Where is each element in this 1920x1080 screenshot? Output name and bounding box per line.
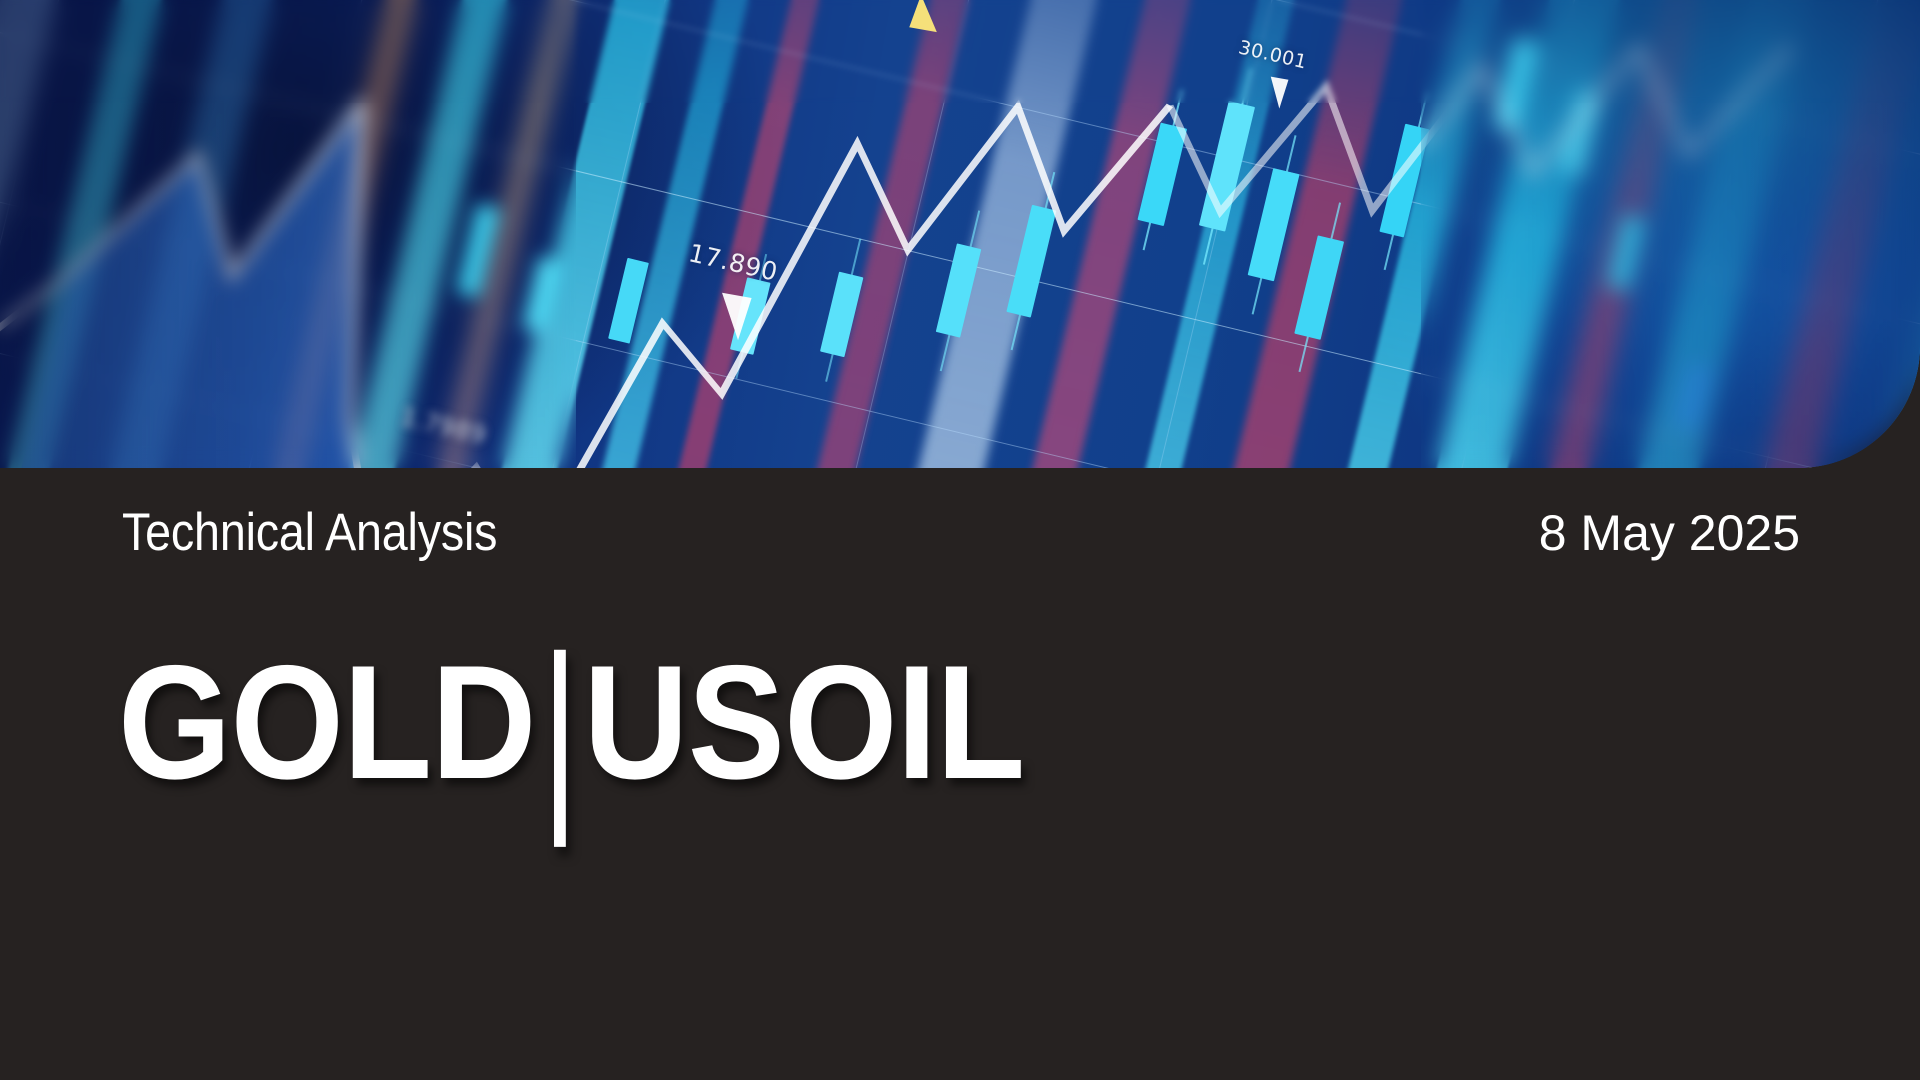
presentation-slide: 17.890 30.001 1.7989 Technical Analysis … — [0, 0, 1920, 1080]
date-label: 8 May 2025 — [1539, 508, 1800, 558]
eyebrow-label: Technical Analysis — [122, 506, 497, 559]
title-separator: | — [536, 626, 584, 837]
hero-blur-top — [0, 0, 1920, 103]
title-instrument-right: USOIL — [583, 632, 1024, 813]
title-instrument-left: GOLD — [118, 632, 536, 813]
page-title: GOLD|USOIL — [118, 642, 1024, 804]
hero-chart-image: 17.890 30.001 1.7989 — [0, 0, 1920, 468]
